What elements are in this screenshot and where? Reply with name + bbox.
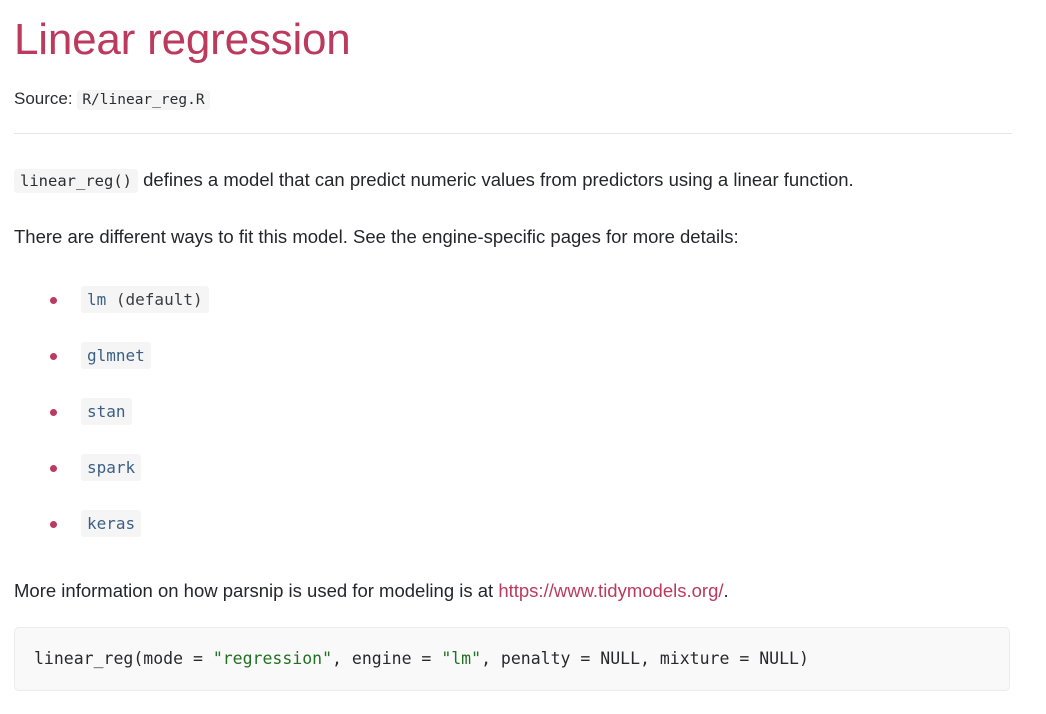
engine-link-keras[interactable]: keras [81,510,141,537]
bullet-icon [50,353,57,360]
engine-name: glmnet [87,346,145,365]
engine-link-lm[interactable]: lm (default) [81,286,209,313]
intro-paragraph: linear_reg() defines a model that can pr… [14,134,1012,194]
list-item: stan [14,384,1012,440]
list-item: spark [14,440,1012,496]
engine-list: lm (default) glmnet stan spark keras [14,250,1012,552]
page-title: Linear regression [14,0,1012,66]
usage-part1: linear_reg(mode = [34,649,213,668]
more-info-prefix: More information on how parsnip is used … [14,580,498,601]
engine-link-spark[interactable]: spark [81,454,141,481]
list-item: glmnet [14,328,1012,384]
usage-string-regression: "regression" [213,649,332,668]
engine-name: lm [87,290,106,309]
usage-code-block: linear_reg(mode = "regression", engine =… [14,627,1010,691]
source-line: Source: R/linear_reg.R [14,66,1012,111]
bullet-icon [50,465,57,472]
usage-part3: , penalty = NULL, mixture = NULL) [481,649,809,668]
engine-note: (default) [106,290,202,309]
tidymodels-link[interactable]: https://www.tidymodels.org/ [498,580,723,601]
more-info-paragraph: More information on how parsnip is used … [14,552,1012,604]
documentation-page: Linear regression Source: R/linear_reg.R… [0,0,1046,714]
engine-name: spark [87,458,135,477]
usage-string-lm: "lm" [441,649,481,668]
engine-link-glmnet[interactable]: glmnet [81,342,151,369]
more-info-suffix: . [724,580,729,601]
bullet-icon [50,297,57,304]
list-item: keras [14,496,1012,552]
bullet-icon [50,521,57,528]
engine-name: stan [87,402,126,421]
engine-name: keras [87,514,135,533]
usage-part2: , engine = [332,649,441,668]
source-file-code: R/linear_reg.R [77,90,209,110]
engines-intro-paragraph: There are different ways to fit this mod… [14,194,1012,250]
bullet-icon [50,409,57,416]
list-item: lm (default) [14,272,1012,328]
function-name-code: linear_reg() [14,169,138,193]
intro-description: defines a model that can predict numeric… [143,169,854,190]
source-label: Source: [14,89,73,108]
engine-link-stan[interactable]: stan [81,398,132,425]
